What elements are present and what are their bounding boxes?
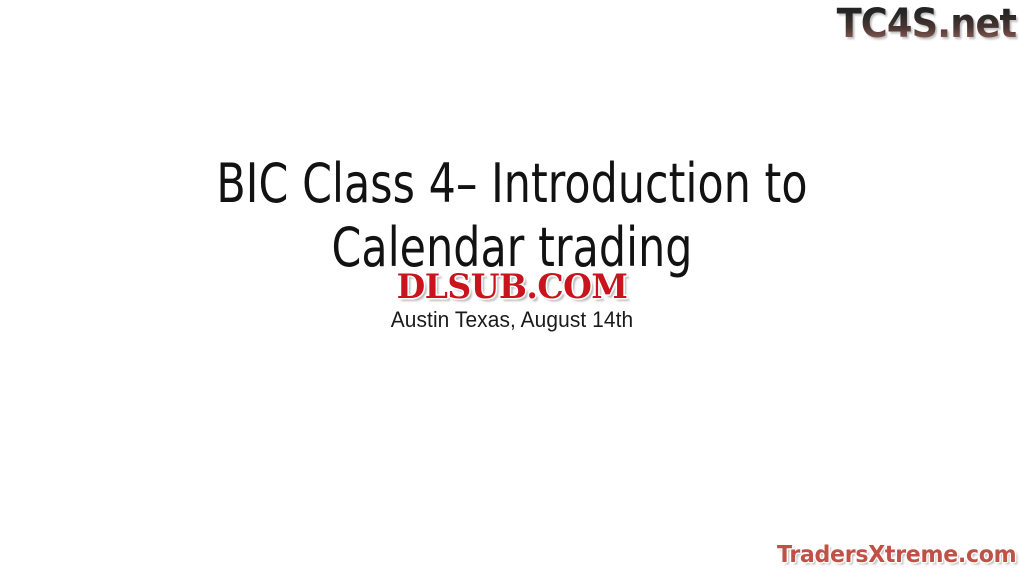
tc4s-logo-watermark: TC4S.net: [836, 2, 1016, 46]
title-block: BIC Class 4– Introduction to Calendar tr…: [80, 152, 944, 280]
dlsub-watermark: DLSUB.COM: [397, 268, 628, 306]
presentation-slide: TC4S.net BIC Class 4– Introduction to Ca…: [0, 0, 1024, 576]
slide-title: BIC Class 4– Introduction to Calendar tr…: [132, 152, 892, 280]
slide-subtitle: Austin Texas, August 14th: [102, 307, 923, 333]
subtitle-block: Austin Texas, August 14th: [80, 307, 944, 333]
tradersxtreme-watermark: TradersXtreme.com: [777, 542, 1016, 569]
